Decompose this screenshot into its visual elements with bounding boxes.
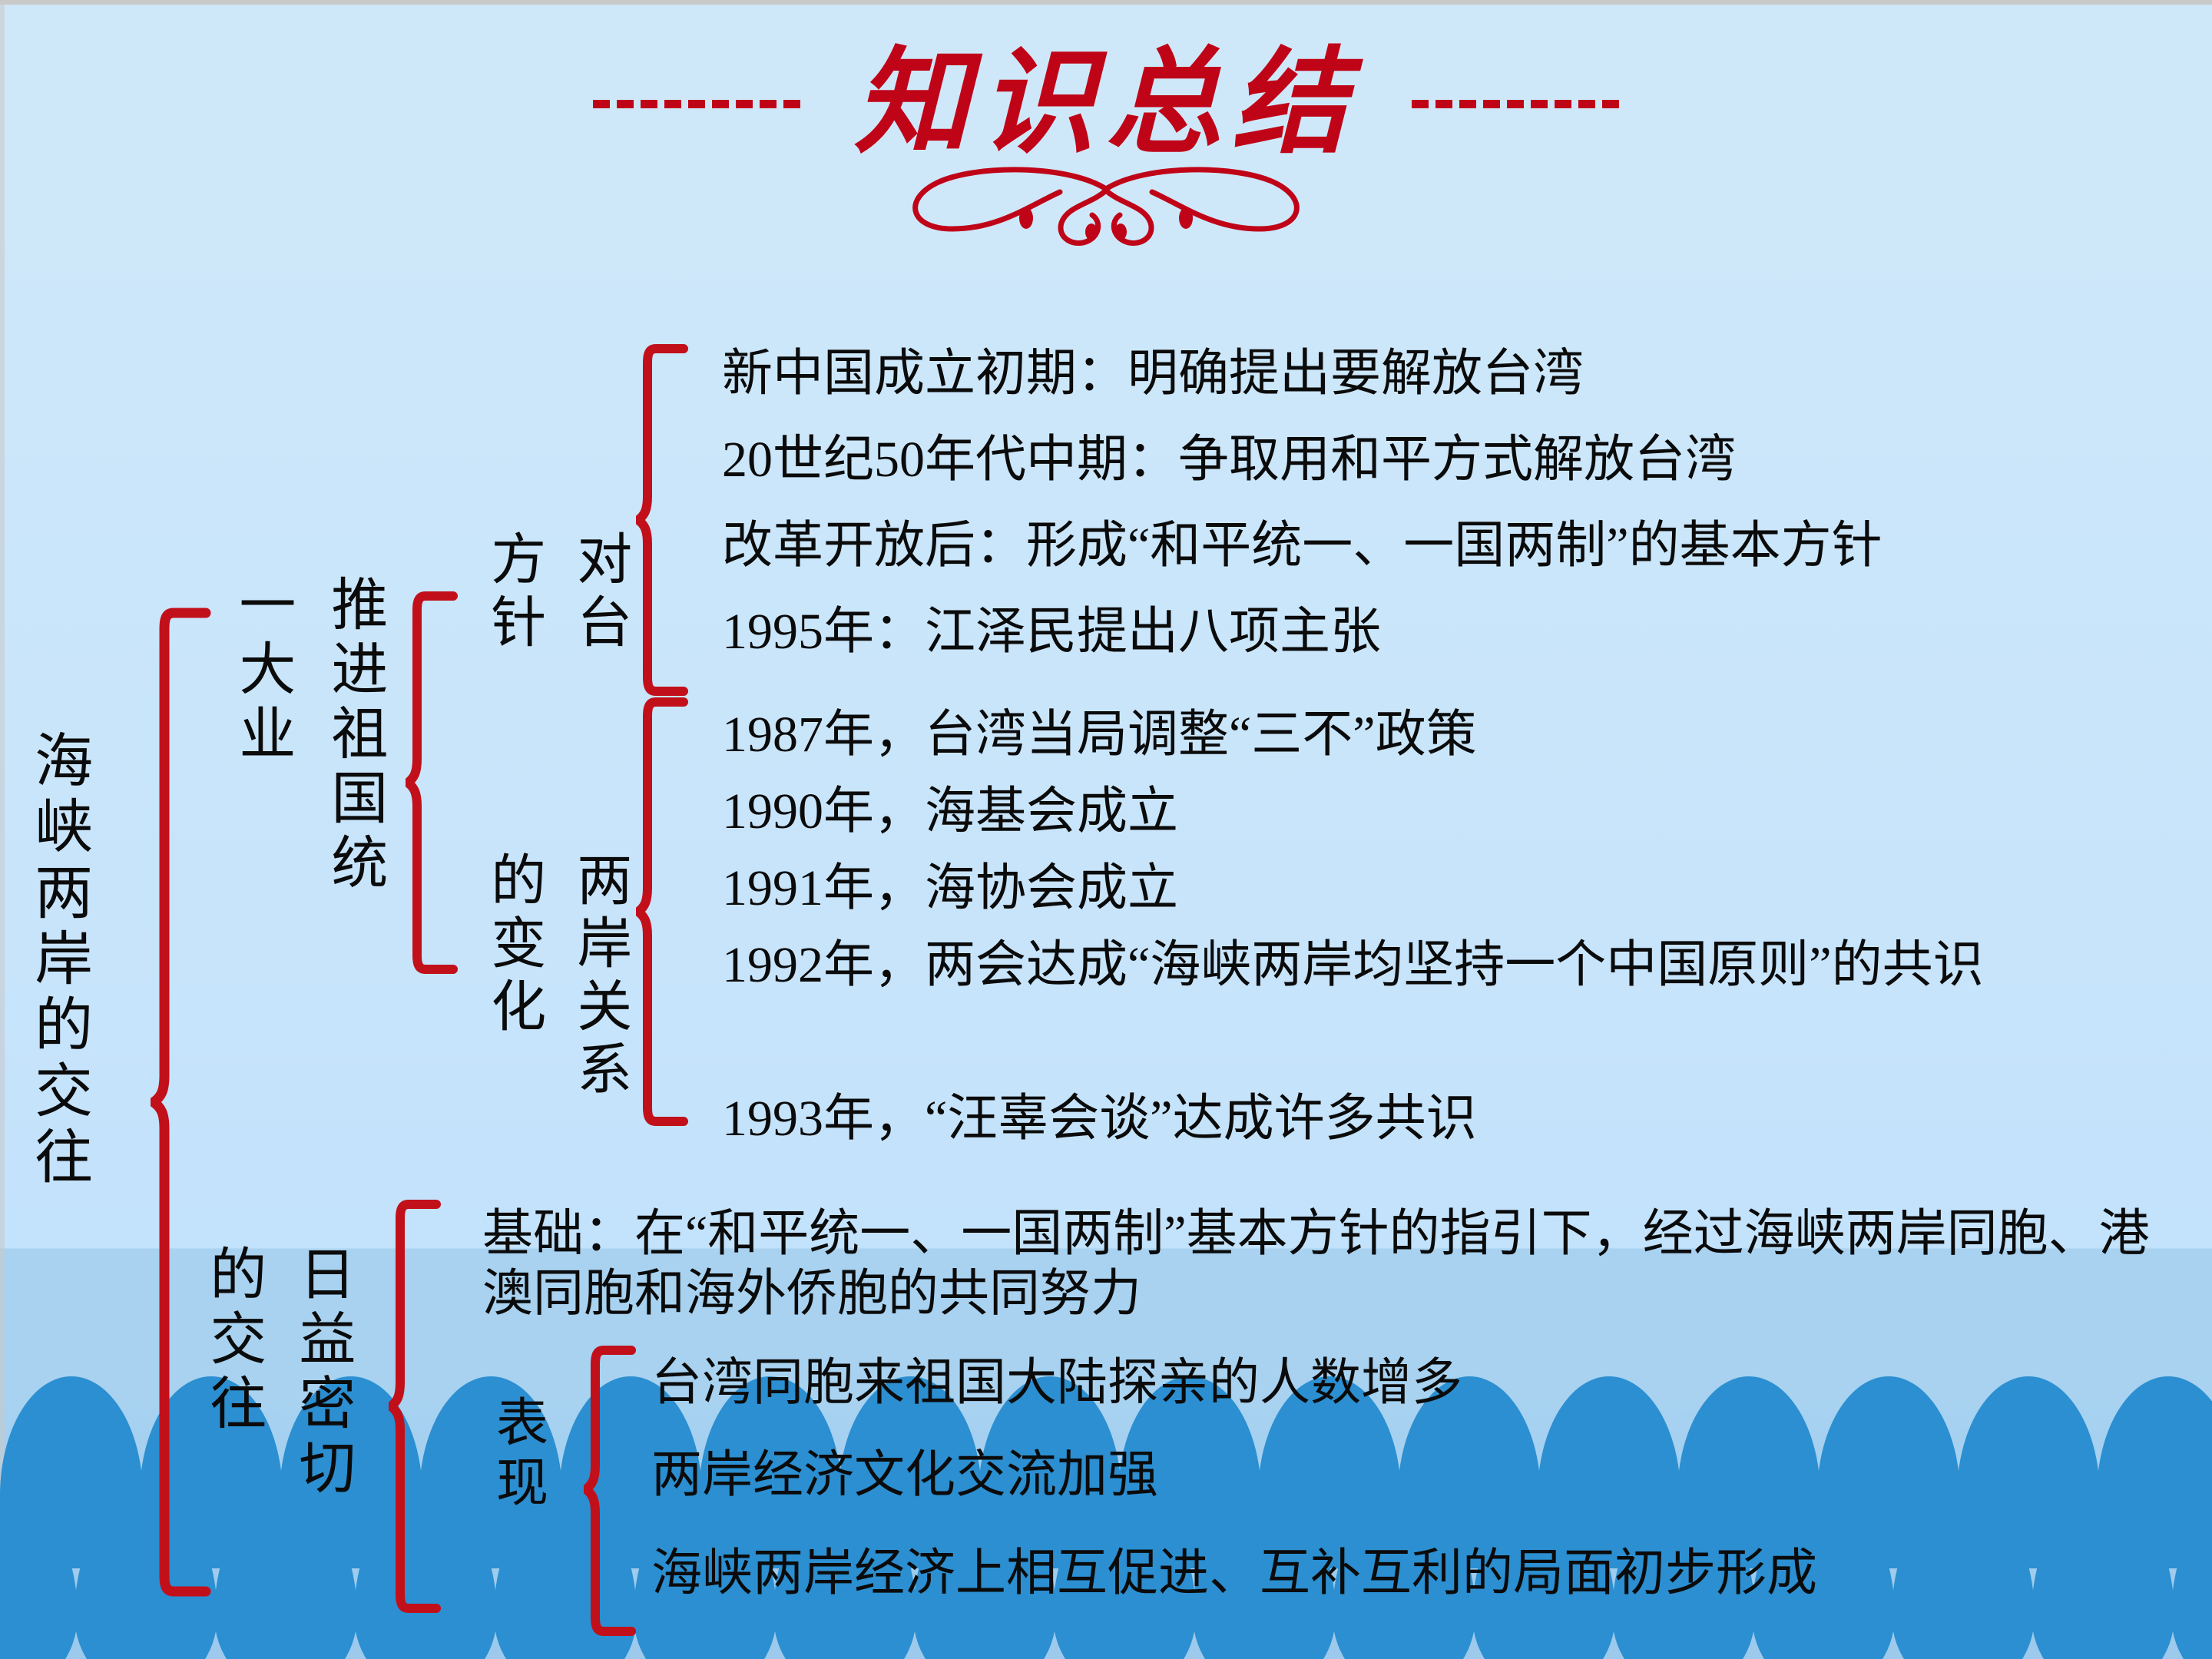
brace-branch2 — [389, 1200, 442, 1614]
sub1-item-0: 新中国成立初期：明确提出要解放台湾 — [722, 344, 1584, 404]
branch1-label-outer: 一大业 — [230, 575, 292, 768]
sub2-item-1: 1990年，海基会成立 — [722, 782, 1178, 842]
branch2-label-inner: 日益密切 — [290, 1244, 352, 1502]
top-border — [0, 0, 2212, 5]
manifestation-item-2: 海峡两岸经济上相互促进、互补互利的局面初步形成 — [651, 1544, 1817, 1604]
sub2-item-2: 1991年，海协会成立 — [722, 859, 1178, 919]
sub2-label-outer: 的变化 — [482, 851, 542, 1040]
manifestation-item-0: 台湾同胞来祖国大陆探亲的人数增多 — [651, 1353, 1462, 1413]
sub1-item-2: 改革开放后：形成“和平统一、一国两制”的基本方针 — [722, 516, 1883, 576]
root-label: 海峡两岸的交往 — [26, 730, 89, 1192]
manifestation-item-1: 两岸经济文化交流加强 — [651, 1445, 1158, 1505]
sub2-item-0: 1987年，台湾当局调整“三不”政策 — [722, 705, 1477, 765]
branch2-basis: 基础：在“和平统一、一国两制”基本方针的指引下，经过海峡两岸同胞、港澳同胞和海外… — [482, 1204, 2187, 1324]
sub1-item-3: 1995年：江泽民提出八项主张 — [722, 602, 1381, 662]
page-title: 知识总结 — [854, 46, 1358, 161]
sub2-label-inner: 两岸关系 — [568, 851, 628, 1103]
brace-sub1 — [636, 344, 690, 697]
sub1-item-1: 20世纪50年代中期：争取用和平方式解放台湾 — [722, 430, 1736, 490]
brace-sub2 — [636, 697, 690, 1128]
sub2-item-3: 1992年，两会达成“海峡两岸均坚持一个中国原则”的共识 — [722, 935, 2204, 995]
sub2-item-4: 1993年，“汪辜会谈”达成许多共识 — [722, 1089, 1477, 1149]
sub1-label-outer: 方针 — [482, 530, 542, 656]
brace-manifestation — [584, 1346, 637, 1637]
manifestation-label: 表现 — [488, 1395, 545, 1515]
sub1-label-inner: 对台 — [568, 530, 628, 656]
branch1-label-inner: 推进祖国统 — [323, 575, 384, 897]
title-block: 知识总结 — [0, 46, 2212, 250]
ornamental-flourish-icon — [0, 158, 2212, 250]
brace-branch1 — [406, 591, 459, 975]
dashed-rule-right-icon — [1412, 100, 1619, 108]
slide-canvas: 知识总结 — [0, 0, 2212, 1659]
dashed-rule-left-icon — [593, 100, 800, 108]
branch2-label-outer: 的交往 — [201, 1244, 263, 1438]
brace-root — [151, 607, 212, 1598]
